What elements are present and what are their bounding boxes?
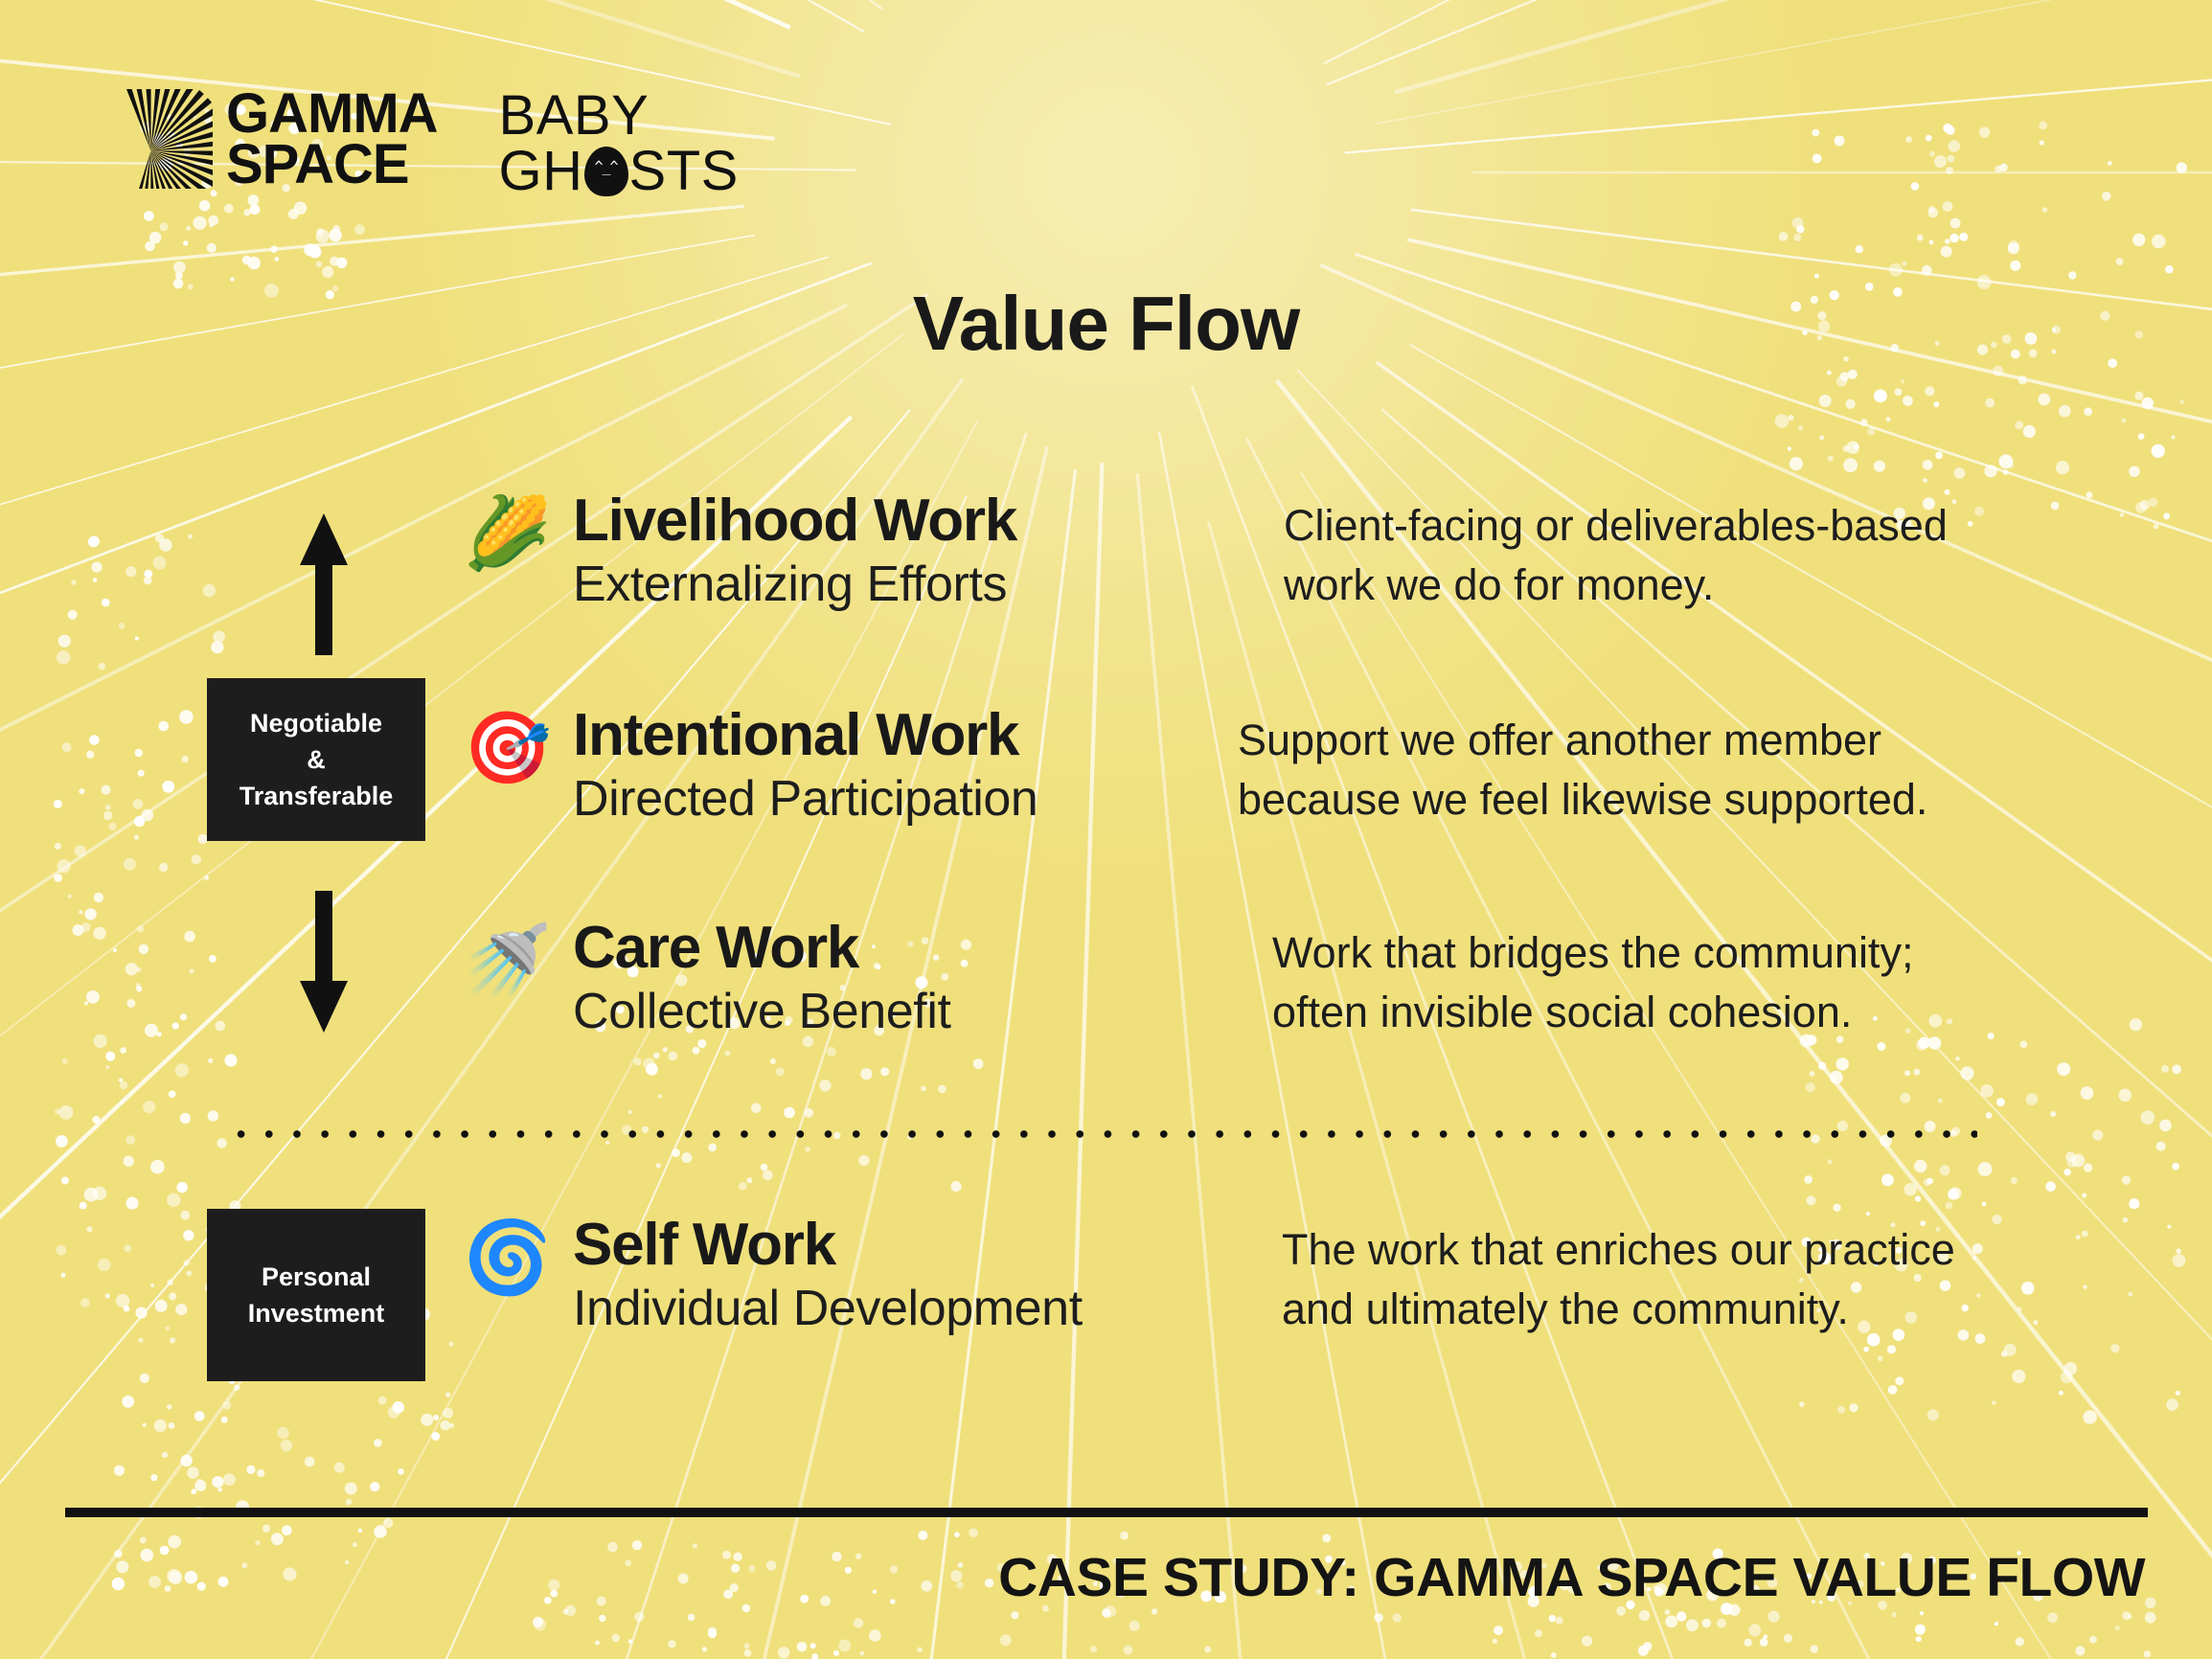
value-row-care: 🚿 Care Work Collective Benefit Work that… (450, 918, 2165, 1042)
chip-negotiable-transferable: Negotiable & Transferable (207, 678, 425, 841)
row-title-livelihood: Livelihood Work (573, 490, 1226, 552)
row-subtitle-intentional: Directed Participation (573, 770, 1226, 829)
row-description-livelihood: Client-facing or deliverables-based work… (1226, 490, 2165, 615)
baby-ghosts-line-2-before: GH (499, 144, 583, 199)
gamma-line-2: SPACE (226, 139, 438, 190)
chip-personal-line-1: Personal (262, 1259, 371, 1295)
baby-ghosts-line-1: BABY (499, 88, 739, 144)
ghost-icon: ^_^ (584, 147, 628, 196)
row-description-care: Work that bridges the community; often i… (1226, 918, 2165, 1042)
spiral-icon: 🌀 (450, 1215, 565, 1293)
row-heading-livelihood: Livelihood Work Externalizing Efforts (565, 490, 1226, 615)
chip-personal-investment: Personal Investment (207, 1209, 425, 1381)
row-desc-line: The work that enriches our practice (1282, 1220, 2165, 1280)
row-heading-self: Self Work Individual Development (565, 1215, 1226, 1339)
row-desc-line: work we do for money. (1284, 556, 2165, 615)
row-desc-line: because we feel likewise supported. (1238, 770, 2165, 829)
row-title-self: Self Work (573, 1215, 1226, 1276)
chip-personal-line-2: Investment (248, 1295, 385, 1331)
gamma-line-1: GAMMA (226, 88, 438, 139)
row-heading-intentional: Intentional Work Directed Participation (565, 705, 1226, 829)
arrow-down-icon (293, 889, 354, 1034)
footer-label: CASE STUDY: GAMMA SPACE VALUE FLOW (998, 1546, 2145, 1609)
ghost-face-label: ^_^ (584, 160, 628, 174)
row-desc-line: Support we offer another member (1238, 711, 2165, 770)
row-description-self: The work that enriches our practice and … (1226, 1215, 2165, 1339)
baby-ghosts-logo: BABY GH ^_^ STS (499, 88, 739, 199)
row-desc-line: Work that bridges the community; (1272, 923, 2165, 983)
row-heading-care: Care Work Collective Benefit (565, 918, 1226, 1042)
baby-ghosts-line-2-after: STS (629, 144, 739, 199)
row-subtitle-livelihood: Externalizing Efforts (573, 556, 1226, 614)
value-row-livelihood: 🌽 Livelihood Work Externalizing Efforts … (450, 490, 2165, 615)
value-row-self: 🌀 Self Work Individual Development The w… (450, 1215, 2165, 1339)
baby-ghosts-line-2: GH ^_^ STS (499, 144, 739, 199)
arrow-up-icon (293, 511, 354, 655)
brand-lockup-row: GAMMA SPACE BABY GH ^_^ STS (113, 88, 739, 199)
chip-negotiable-line-1: Negotiable (250, 705, 382, 741)
page-title: Value Flow (0, 280, 2212, 368)
chip-negotiable-line-3: Transferable (239, 778, 394, 814)
sunburst-icon (113, 89, 213, 189)
faucet-water-icon: 🚿 (450, 918, 565, 996)
value-flow-poster: GAMMA SPACE BABY GH ^_^ STS Value Flow (0, 0, 2212, 1659)
row-desc-line: often invisible social cohesion. (1272, 983, 2165, 1042)
row-subtitle-care: Collective Benefit (573, 983, 1226, 1041)
value-row-intentional: 🎯 Intentional Work Directed Participatio… (450, 705, 2165, 829)
row-subtitle-self: Individual Development (573, 1280, 1226, 1338)
row-desc-line: and ultimately the community. (1282, 1280, 2165, 1339)
corn-icon: 🌽 (450, 490, 565, 569)
row-desc-line: Client-facing or deliverables-based (1284, 496, 2165, 556)
row-description-intentional: Support we offer another member because … (1226, 705, 2165, 829)
row-title-intentional: Intentional Work (573, 705, 1226, 766)
chip-negotiable-line-2: & (307, 741, 326, 778)
gamma-space-logo: GAMMA SPACE (113, 88, 438, 191)
row-title-care: Care Work (573, 918, 1226, 979)
dart-target-icon: 🎯 (450, 705, 565, 784)
dotted-divider (227, 1125, 1977, 1143)
footer-rule (65, 1508, 2148, 1517)
gamma-space-wordmark: GAMMA SPACE (226, 88, 438, 191)
